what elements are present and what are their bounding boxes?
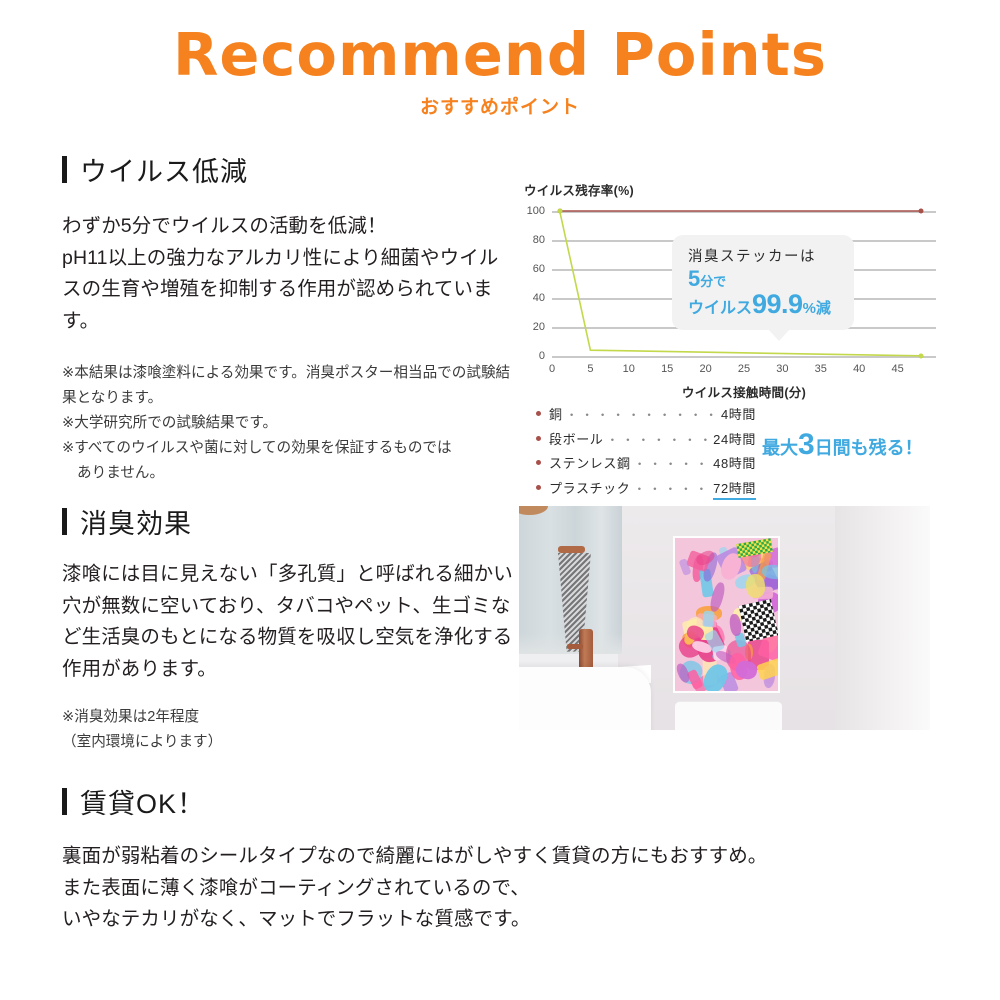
chart-series-marker bbox=[557, 209, 562, 214]
survival-time-legend: 銅・・・・・・・・・・・・・・・・・・4時間段ボール・・・・・・・・・・・・・・… bbox=[536, 404, 756, 505]
note-line: ※大学研究所での試験結果です。 bbox=[62, 411, 512, 436]
legend-material-name: ステンレス鋼 bbox=[549, 453, 631, 472]
section-heading-virus-reduction: ウイルス低減 bbox=[62, 150, 512, 189]
note-line: （室内環境によります） bbox=[62, 730, 517, 755]
heading-bar-icon bbox=[62, 156, 67, 183]
heading-bar-icon bbox=[62, 788, 67, 815]
legend-duration-value: 72時間 bbox=[713, 478, 756, 500]
chart-x-tick-label: 40 bbox=[853, 363, 865, 375]
legend-duration-value: 4時間 bbox=[721, 404, 756, 423]
chart-x-tick-label: 30 bbox=[776, 363, 788, 375]
heading-text: ウイルス低減 bbox=[80, 150, 248, 189]
callout-line-1: 消臭ステッカーは bbox=[688, 245, 840, 266]
callout-virus-label: ウイルス bbox=[688, 300, 752, 317]
legend-row: ステンレス鋼・・・・・・・・・・・・・・・・・・48時間 bbox=[536, 453, 756, 472]
virus-survival-chart: ウイルス残存率(%) 020406080100 0510152025303540… bbox=[524, 180, 944, 401]
chart-y-tick-label: 80 bbox=[533, 234, 545, 246]
chart-plot-box: 020406080100 051015202530354045 消臭ステッカーは… bbox=[524, 211, 944, 356]
section-body-deodorizing: 漆喰には目に見えない「多孔質」と呼ばれる細かい穴が無数に空いており、タバコやペッ… bbox=[62, 559, 517, 685]
survival-badge: 最大3日間も残る！ bbox=[762, 428, 923, 462]
badge-prefix: 最大 bbox=[762, 438, 798, 458]
chart-y-tick-label: 100 bbox=[527, 205, 545, 217]
legend-bullet-icon bbox=[536, 485, 541, 490]
page-title: Recommend Points bbox=[0, 24, 1000, 86]
callout-minutes-suffix: で bbox=[713, 274, 726, 289]
chart-gridline: 0 bbox=[552, 356, 936, 358]
callout-minutes-unit: 分 bbox=[700, 274, 713, 289]
legend-material-name: プラスチック bbox=[549, 478, 630, 497]
section-deodorizing: 消臭効果 漆喰には目に見えない「多孔質」と呼ばれる細かい穴が無数に空いており、タ… bbox=[62, 502, 517, 755]
legend-material-name: 段ボール bbox=[549, 429, 603, 448]
legend-duration-value: 24時間 bbox=[713, 429, 756, 448]
callout-minutes-number: 5 bbox=[688, 266, 700, 291]
page-header: Recommend Points おすすめポイント bbox=[0, 0, 1000, 119]
photo-faucet-handle bbox=[567, 644, 583, 650]
legend-leader-dots: ・・・・・・・・・・・・・・・・・・ bbox=[606, 431, 710, 448]
section-body-rental-ok: 裏面が弱粘着のシールタイプなので綺麗にはがしやすく賃貸の方にもおすすめ。 また表… bbox=[62, 841, 862, 936]
section-heading-rental-ok: 賃貸OK！ bbox=[62, 782, 862, 821]
callout-line-2: 5分で bbox=[688, 268, 840, 290]
note-line-indent: ありません。 bbox=[62, 461, 512, 486]
poster-checker-pattern bbox=[739, 599, 779, 642]
callout-reduction-number: 99.9 bbox=[752, 289, 803, 319]
legend-row: 銅・・・・・・・・・・・・・・・・・・4時間 bbox=[536, 404, 756, 423]
bathroom-photo bbox=[519, 506, 930, 730]
note-line: ※本結果は漆喰塗料による効果です。消臭ポスター相当品での試験結果となります。 bbox=[62, 361, 512, 411]
callout-line-3: ウイルス99.9%減 bbox=[688, 290, 840, 318]
chart-series-marker bbox=[918, 353, 923, 358]
chart-y-axis-label: ウイルス残存率(%) bbox=[524, 180, 944, 199]
note-line: ※消臭効果は2年程度 bbox=[62, 705, 517, 730]
section-notes-virus-reduction: ※本結果は漆喰塗料による効果です。消臭ポスター相当品での試験結果となります。 ※… bbox=[62, 361, 512, 485]
legend-bullet-icon bbox=[536, 411, 541, 416]
chart-x-axis-label: ウイルス接触時間(分) bbox=[524, 382, 944, 401]
legend-leader-dots: ・・・・・・・・・・・・・・・・・・ bbox=[634, 455, 711, 472]
legend-duration-value: 48時間 bbox=[713, 453, 756, 472]
section-virus-reduction: ウイルス低減 わずか5分でウイルスの活動を低減！ pH11以上の強力なアルカリ性… bbox=[62, 150, 512, 485]
chart-x-tick-label: 20 bbox=[699, 363, 711, 375]
chart-x-tick-label: 25 bbox=[738, 363, 750, 375]
heading-text: 消臭効果 bbox=[80, 502, 192, 541]
chart-plot-area: 020406080100 051015202530354045 消臭ステッカーは… bbox=[552, 211, 936, 356]
callout-percent-sign: % bbox=[803, 300, 816, 317]
legend-leader-dots: ・・・・・・・・・・・・・・・・・・ bbox=[633, 480, 710, 497]
section-heading-deodorizing: 消臭効果 bbox=[62, 502, 517, 541]
note-line: ※すべてのウイルスや菌に対しての効果を保証するものでは bbox=[62, 436, 512, 461]
chart-x-tick-label: 5 bbox=[587, 363, 593, 375]
legend-row: プラスチック・・・・・・・・・・・・・・・・・・72時間 bbox=[536, 478, 756, 500]
chart-x-tick-label: 10 bbox=[623, 363, 635, 375]
badge-suffix: 日間も残る！ bbox=[815, 438, 923, 458]
page-subtitle: おすすめポイント bbox=[0, 92, 1000, 119]
chart-series-marker bbox=[918, 209, 923, 214]
legend-leader-dots: ・・・・・・・・・・・・・・・・・・ bbox=[566, 406, 718, 423]
chart-x-tick-label: 0 bbox=[549, 363, 555, 375]
section-body-virus-reduction: わずか5分でウイルスの活動を低減！ pH11以上の強力なアルカリ性により細菌やウ… bbox=[62, 211, 512, 337]
legend-bullet-icon bbox=[536, 460, 541, 465]
photo-towel-hook bbox=[558, 546, 585, 553]
page-root: Recommend Points おすすめポイント ウイルス低減 わずか5分でウ… bbox=[0, 0, 1000, 1000]
chart-y-tick-label: 0 bbox=[539, 350, 545, 362]
callout-reduction-suffix: 減 bbox=[816, 300, 831, 317]
chart-y-tick-label: 40 bbox=[533, 292, 545, 304]
section-rental-ok: 賃貸OK！ 裏面が弱粘着のシールタイプなので綺麗にはがしやすく賃貸の方にもおすす… bbox=[62, 782, 862, 936]
photo-sink bbox=[519, 667, 651, 730]
heading-text: 賃貸OK！ bbox=[80, 782, 205, 821]
badge-number: 3 bbox=[798, 428, 815, 461]
legend-row: 段ボール・・・・・・・・・・・・・・・・・・24時間 bbox=[536, 429, 756, 448]
section-notes-deodorizing: ※消臭効果は2年程度 （室内環境によります） bbox=[62, 705, 517, 755]
poster-sticker bbox=[702, 611, 715, 628]
chart-annotation-callout: 消臭ステッカーは 5分で ウイルス99.9%減 bbox=[672, 235, 854, 330]
chart-x-tick-label: 15 bbox=[661, 363, 673, 375]
photo-wall-right bbox=[835, 506, 930, 730]
heading-bar-icon bbox=[62, 508, 67, 535]
chart-x-tick-label: 45 bbox=[891, 363, 903, 375]
legend-bullet-icon bbox=[536, 436, 541, 441]
chart-y-tick-label: 60 bbox=[533, 263, 545, 275]
legend-material-name: 銅 bbox=[549, 404, 563, 423]
chart-y-tick-label: 20 bbox=[533, 321, 545, 333]
photo-toilet-tank bbox=[675, 701, 782, 730]
chart-x-tick-label: 35 bbox=[815, 363, 827, 375]
photo-sticker-poster bbox=[673, 536, 780, 693]
